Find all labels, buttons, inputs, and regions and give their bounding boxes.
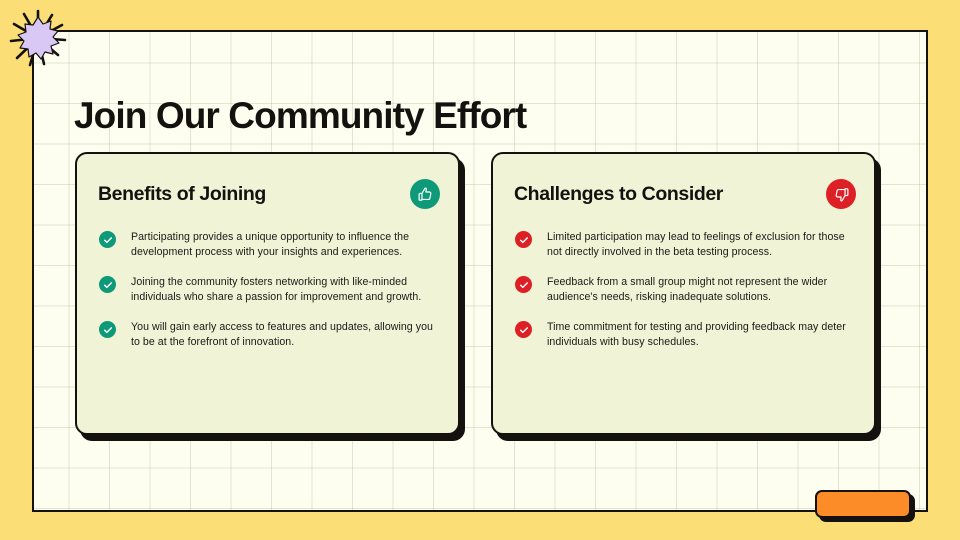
list-item: Feedback from a small group might not re… bbox=[515, 275, 858, 304]
list-item-text: Participating provides a unique opportun… bbox=[131, 230, 442, 259]
thumbs-up-icon bbox=[410, 179, 440, 209]
list-item: Participating provides a unique opportun… bbox=[99, 230, 442, 259]
check-icon bbox=[99, 276, 116, 293]
list-item-text: Time commitment for testing and providin… bbox=[547, 320, 858, 349]
thumbs-down-icon bbox=[826, 179, 856, 209]
slide-sheet: Join Our Community Effort Benefits of Jo… bbox=[32, 30, 928, 512]
list-item: Joining the community fosters networking… bbox=[99, 275, 442, 304]
card-benefits-title: Benefits of Joining bbox=[98, 183, 266, 206]
list-item-text: You will gain early access to features a… bbox=[131, 320, 442, 349]
list-item-text: Joining the community fosters networking… bbox=[131, 275, 442, 304]
check-icon bbox=[515, 231, 532, 248]
page-title: Join Our Community Effort bbox=[74, 95, 526, 137]
list-item: Time commitment for testing and providin… bbox=[515, 320, 858, 349]
card-challenges-header: Challenges to Consider bbox=[514, 176, 856, 212]
list-item-text: Feedback from a small group might not re… bbox=[547, 275, 858, 304]
check-icon bbox=[99, 321, 116, 338]
benefits-list: Participating provides a unique opportun… bbox=[99, 230, 442, 366]
check-icon bbox=[515, 321, 532, 338]
card-benefits-header: Benefits of Joining bbox=[98, 176, 440, 212]
check-icon bbox=[99, 231, 116, 248]
card-challenges: Challenges to Consider Limited participa… bbox=[491, 152, 876, 435]
list-item: Limited participation may lead to feelin… bbox=[515, 230, 858, 259]
list-item: You will gain early access to features a… bbox=[99, 320, 442, 349]
check-icon bbox=[515, 276, 532, 293]
next-button[interactable] bbox=[815, 490, 911, 518]
card-challenges-title: Challenges to Consider bbox=[514, 183, 723, 206]
card-benefits: Benefits of Joining Participating provid… bbox=[75, 152, 460, 435]
starburst-icon bbox=[8, 8, 68, 68]
list-item-text: Limited participation may lead to feelin… bbox=[547, 230, 858, 259]
challenges-list: Limited participation may lead to feelin… bbox=[515, 230, 858, 366]
